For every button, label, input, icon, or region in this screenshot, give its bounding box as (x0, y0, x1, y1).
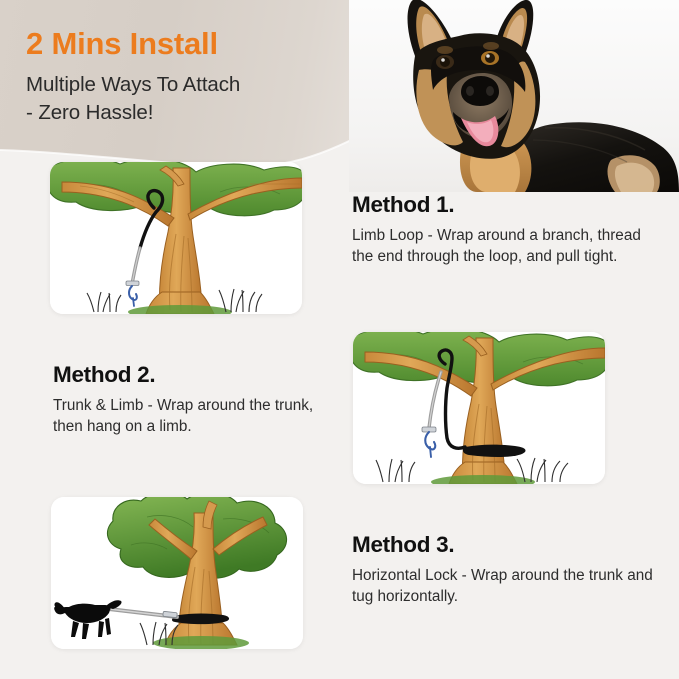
subtitle-line-2: - Zero Hassle! (26, 99, 356, 127)
method-3-title: Method 3. (352, 532, 662, 558)
german-shepherd-dog-photo (349, 0, 679, 192)
method-2-body: Trunk & Limb - Wrap around the trunk, th… (53, 395, 343, 437)
method-2-text-block: Method 2. Trunk & Limb - Wrap around the… (53, 362, 343, 437)
method-1-body: Limb Loop - Wrap around a branch, thread… (352, 225, 662, 267)
tree-limb-loop-illustration (50, 162, 302, 314)
subtitle-line-1: Multiple Ways To Attach (26, 71, 356, 99)
method-3-text-block: Method 3. Horizontal Lock - Wrap around … (352, 532, 662, 607)
method-1-text-block: Method 1. Limb Loop - Wrap around a bran… (352, 192, 662, 267)
tree-horizontal-lock-illustration (51, 497, 303, 649)
headline-block: 2 Mins Install Multiple Ways To Attach -… (26, 26, 356, 127)
infographic-page: 2 Mins Install Multiple Ways To Attach -… (0, 0, 679, 679)
page-subtitle: Multiple Ways To Attach - Zero Hassle! (26, 71, 356, 127)
method-2-title: Method 2. (53, 362, 343, 388)
method-1-title: Method 1. (352, 192, 662, 218)
tree-trunk-and-limb-illustration (353, 332, 605, 484)
method-3-body: Horizontal Lock - Wrap around the trunk … (352, 565, 662, 607)
page-title: 2 Mins Install (26, 26, 356, 62)
